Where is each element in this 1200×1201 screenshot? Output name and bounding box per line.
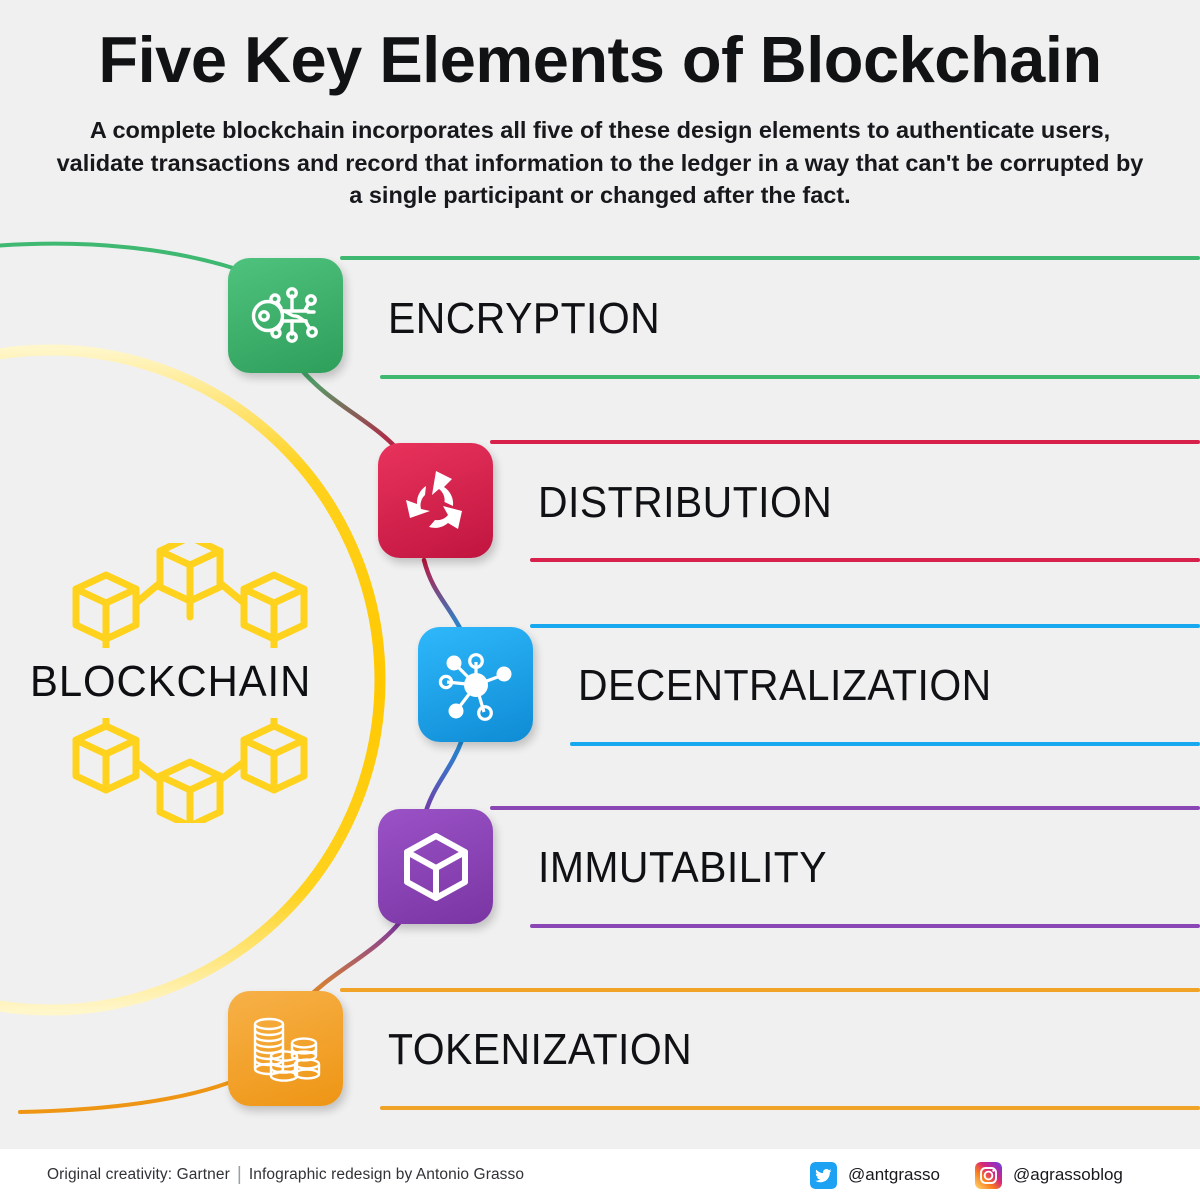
- icon-tokenization[interactable]: [228, 991, 343, 1106]
- connector-encryption-distribution: [300, 368, 400, 452]
- icon-encryption[interactable]: [228, 258, 343, 373]
- row-rule-top-encryption: [340, 256, 1200, 260]
- row-rule-top-decentralization: [530, 624, 1200, 628]
- coin-stacks-icon: [247, 1010, 325, 1088]
- network-hub-icon: [435, 644, 517, 726]
- twitter-icon[interactable]: [810, 1162, 837, 1189]
- credit-source: Original creativity: Gartner: [47, 1166, 230, 1183]
- credit-line: Original creativity: Gartner|Infographic…: [47, 1164, 524, 1186]
- instagram-icon[interactable]: [975, 1162, 1002, 1189]
- connector-decentralization-immutability: [424, 740, 462, 818]
- row-rule-bottom-encryption: [380, 375, 1200, 379]
- footer: Original creativity: Gartner|Infographic…: [0, 1149, 1200, 1201]
- label-decentralization: DECENTRALIZATION: [578, 661, 992, 711]
- center-label: BLOCKCHAIN: [30, 657, 311, 707]
- row-rule-bottom-distribution: [530, 558, 1200, 562]
- twitter-handle[interactable]: @antgrasso: [848, 1165, 940, 1185]
- connector-distribution-decentralization: [424, 560, 462, 632]
- row-rule-top-distribution: [490, 440, 1200, 444]
- blockchain-cubes-icon-top: [68, 543, 308, 648]
- row-rule-bottom-immutability: [530, 924, 1200, 928]
- blockchain-cubes-icon-bottom: [68, 718, 308, 823]
- credit-author: Infographic redesign by Antonio Grasso: [249, 1166, 524, 1183]
- social-instagram[interactable]: @agrassoblog: [975, 1162, 1123, 1189]
- icon-distribution[interactable]: [378, 443, 493, 558]
- label-tokenization: TOKENIZATION: [388, 1025, 692, 1075]
- row-rule-bottom-tokenization: [380, 1106, 1200, 1110]
- orange-tail-arc: [20, 1083, 228, 1112]
- recycle-arrows-icon: [396, 461, 476, 541]
- row-rule-bottom-decentralization: [570, 742, 1200, 746]
- credit-separator: |: [230, 1164, 249, 1185]
- row-rule-top-tokenization: [340, 988, 1200, 992]
- label-encryption: ENCRYPTION: [388, 294, 660, 344]
- icon-decentralization[interactable]: [418, 627, 533, 742]
- infographic-canvas: Five Key Elements of Blockchain A comple…: [0, 0, 1200, 1201]
- social-twitter[interactable]: @antgrasso: [810, 1162, 940, 1189]
- green-sweep-arc: [0, 244, 262, 278]
- label-distribution: DISTRIBUTION: [538, 478, 832, 528]
- cube-icon: [397, 828, 475, 906]
- row-rule-top-immutability: [490, 806, 1200, 810]
- circuit-key-icon: [248, 278, 324, 354]
- icon-immutability[interactable]: [378, 809, 493, 924]
- label-immutability: IMMUTABILITY: [538, 843, 827, 893]
- instagram-handle[interactable]: @agrassoblog: [1013, 1165, 1123, 1185]
